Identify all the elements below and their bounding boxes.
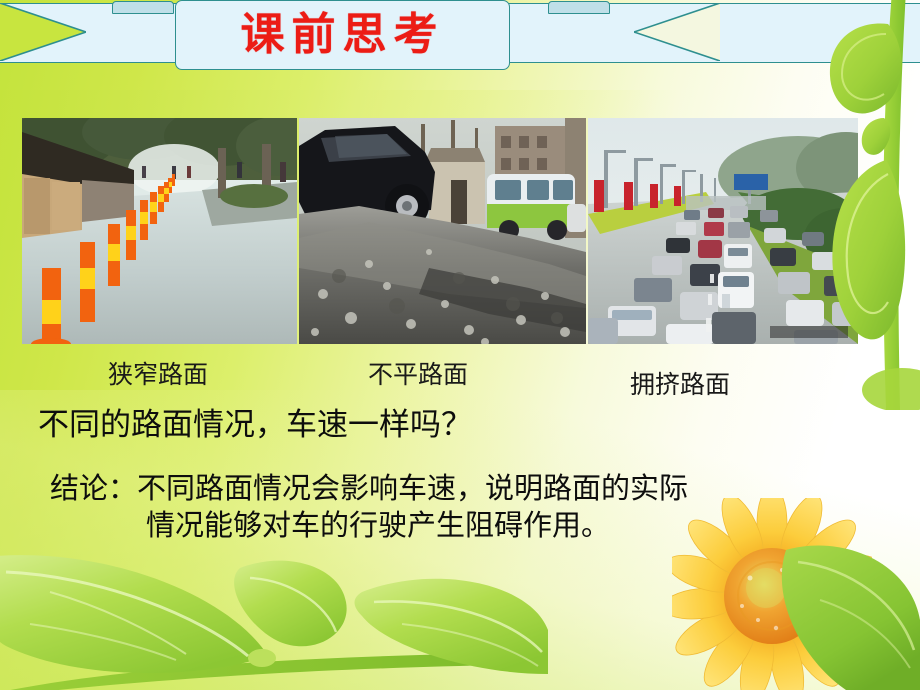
- plaque-tab-left: [112, 1, 174, 14]
- plaque-tab-right: [548, 1, 610, 14]
- question-text: 不同的路面情况，车速一样吗？: [38, 408, 472, 442]
- congested-road-photo: [588, 118, 858, 344]
- ribbon-right-notch: [634, 3, 720, 61]
- caption-uneven-road: 不平路面: [368, 362, 468, 387]
- title-plaque: 课前思考: [175, 0, 510, 70]
- leaf-icon: [750, 540, 920, 690]
- title-ribbon: 课前思考: [0, 3, 920, 61]
- uneven-road-photo: [299, 118, 586, 344]
- page-title: 课前思考: [241, 13, 445, 57]
- ribbon-left-notch: [0, 3, 86, 61]
- narrow-road-photo: [22, 118, 297, 344]
- conclusion-line-2: 情况能够对车的行驶产生阻碍作用。: [50, 507, 870, 544]
- conclusion-block: 结论：不同路面情况会影响车速，说明路面的实际 情况能够对车的行驶产生阻碍作用。: [50, 470, 870, 544]
- caption-congested-road: 拥挤路面: [630, 372, 730, 397]
- presentation-slide: 课前思考: [0, 0, 920, 690]
- caption-narrow-road: 狭窄路面: [108, 362, 208, 387]
- conclusion-line-1: 结论：不同路面情况会影响车速，说明路面的实际: [50, 471, 688, 505]
